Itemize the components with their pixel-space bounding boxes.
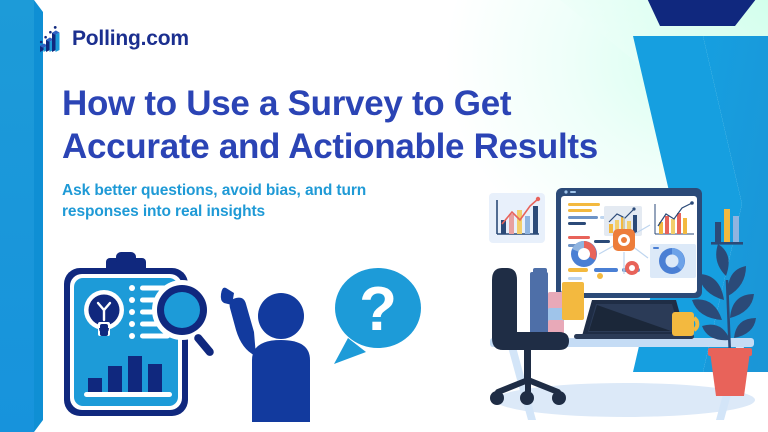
monitor-dashboard bbox=[556, 188, 702, 298]
wall-chart-frame bbox=[489, 193, 545, 243]
dashboard-donut-right bbox=[650, 244, 696, 278]
dashboard-donut-left bbox=[571, 241, 597, 267]
analytics-workspace-illustration bbox=[0, 0, 768, 432]
dashboard-bar-card-right bbox=[652, 201, 696, 239]
poster-canvas: Polling.com How to Use a Survey to Get A… bbox=[0, 0, 768, 432]
coffee-mug bbox=[672, 312, 697, 336]
wall-bar-chart bbox=[711, 209, 743, 245]
